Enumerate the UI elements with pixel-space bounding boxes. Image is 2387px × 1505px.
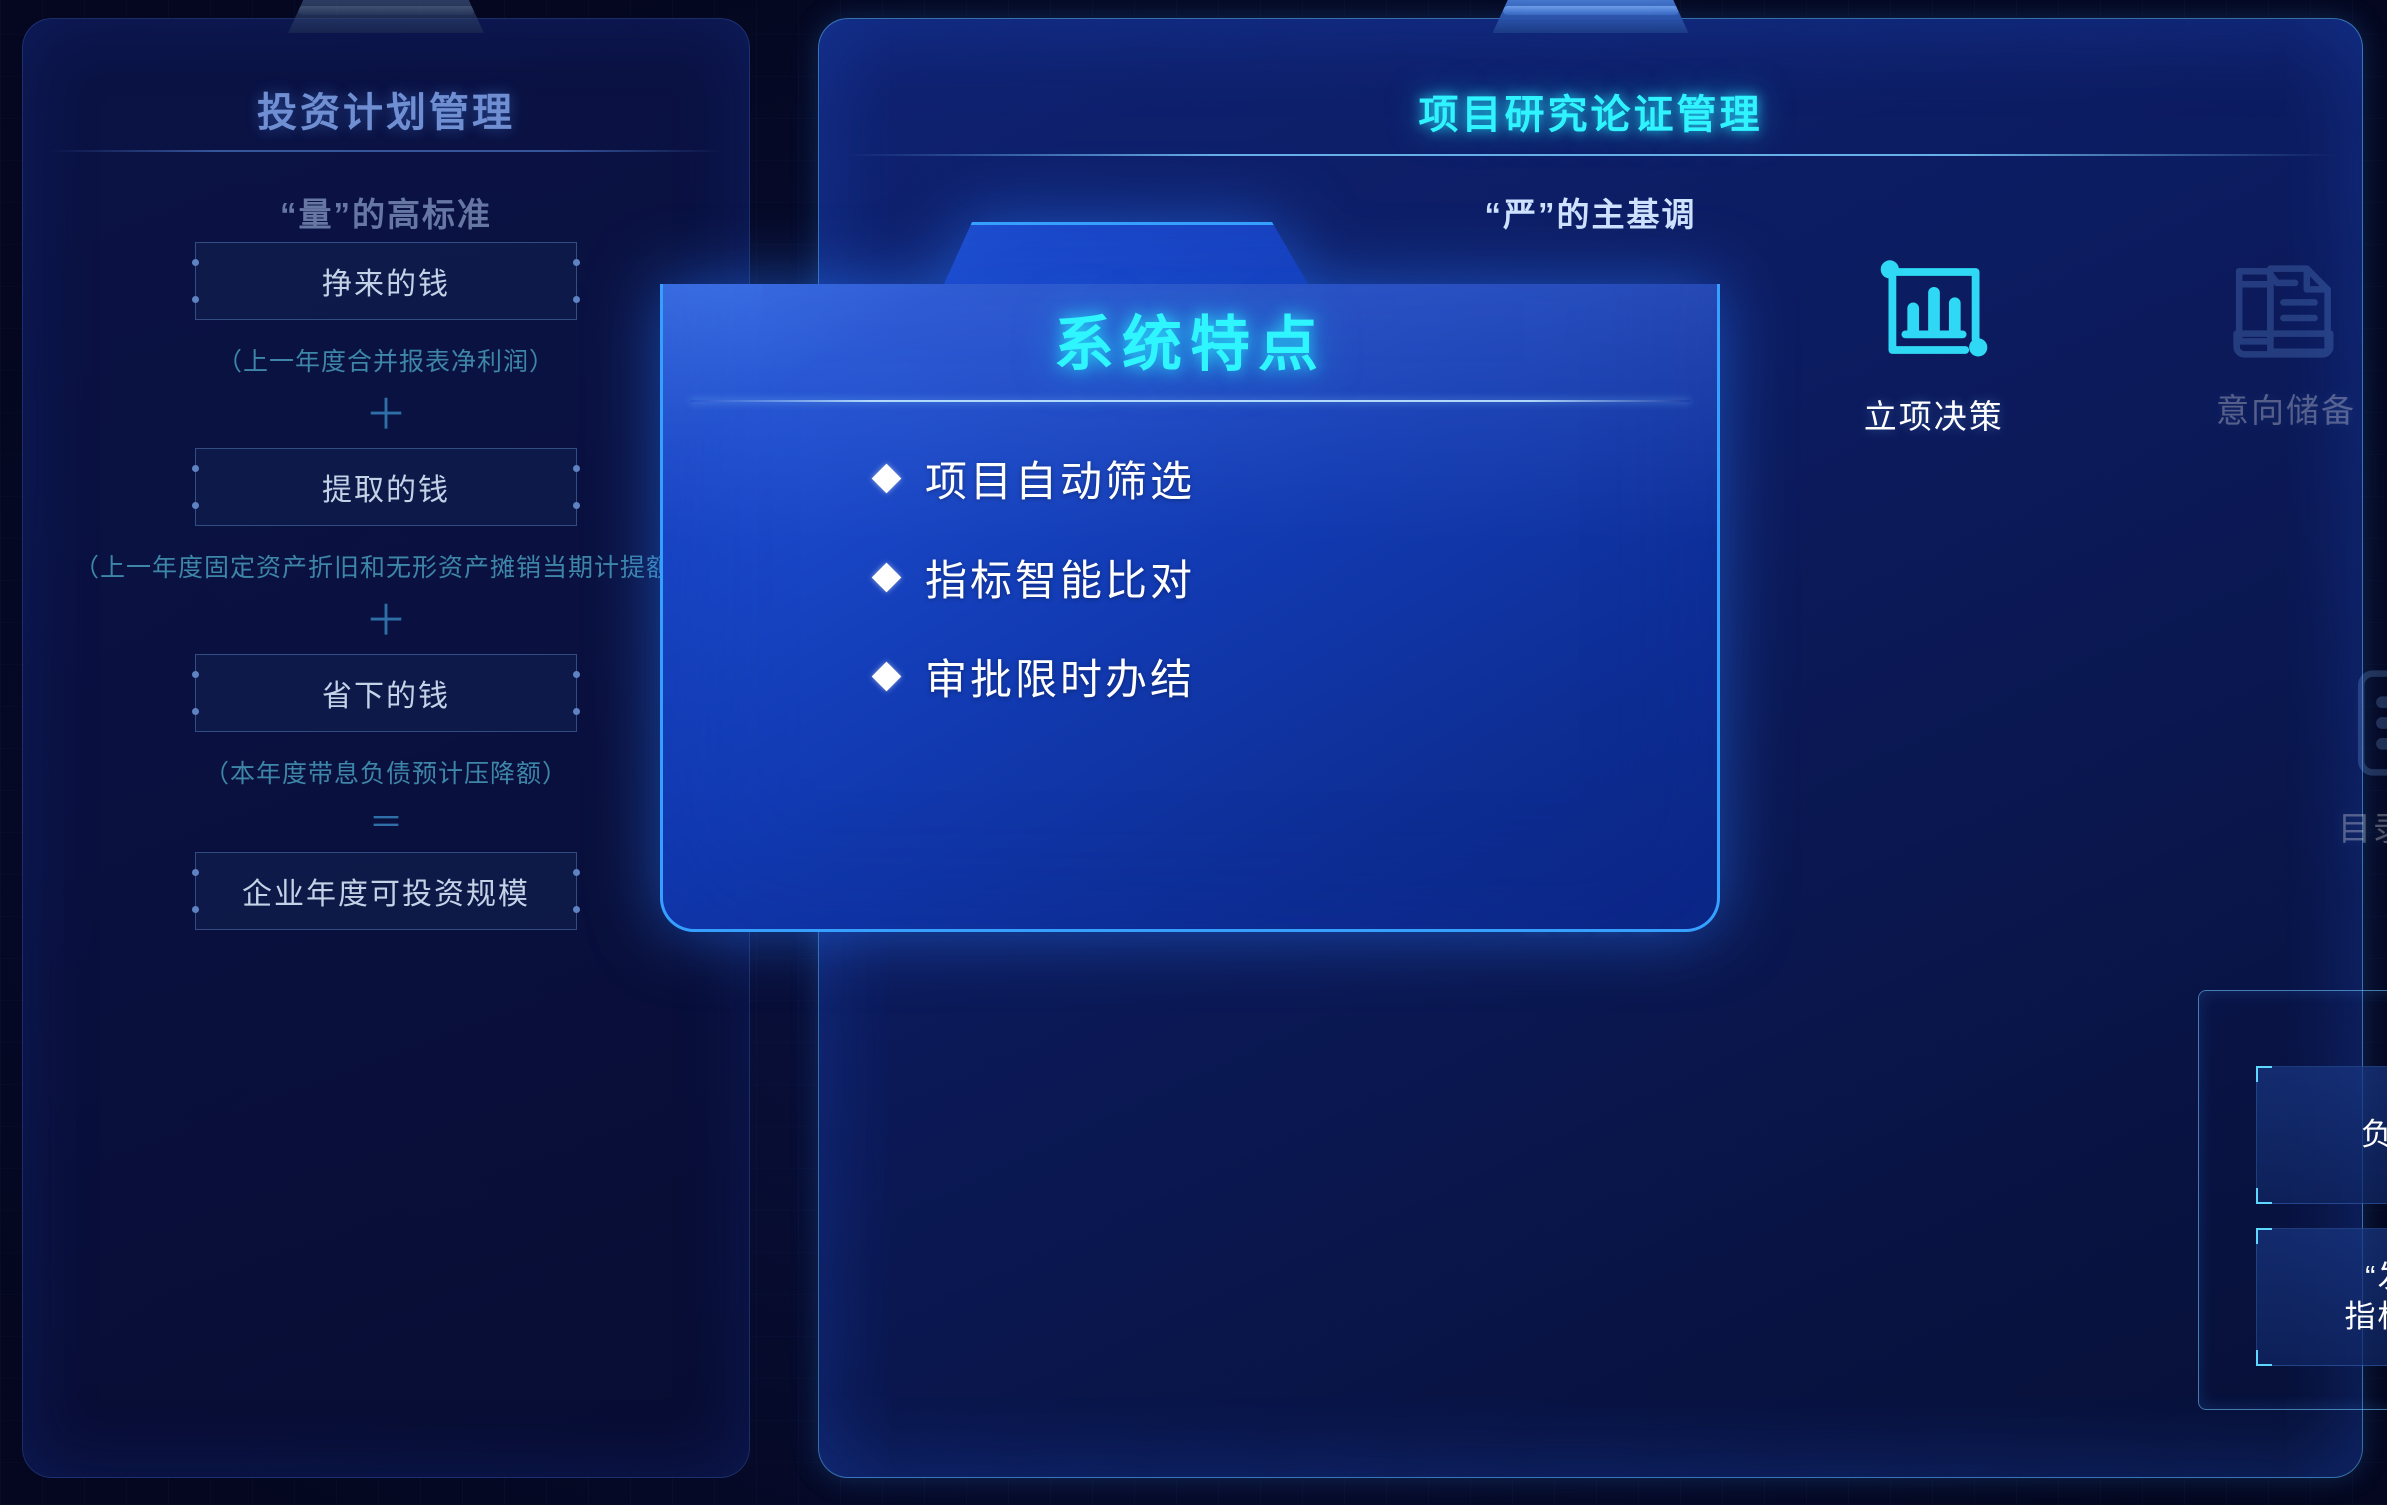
modal-list-item[interactable]: 指标智能比对 bbox=[876, 547, 1195, 608]
panel-left-subtitle: “量”的高标准 bbox=[22, 188, 750, 236]
formula-box-result[interactable]: 企业年度可投资规模 bbox=[195, 852, 577, 930]
corner-dot-icon bbox=[573, 869, 580, 876]
corner-dot-icon bbox=[573, 296, 580, 303]
corner-dot-icon bbox=[573, 708, 580, 715]
formula-box-label: 提取的钱 bbox=[322, 465, 450, 509]
formula-box-label: 省下的钱 bbox=[322, 671, 450, 715]
embed-cell-label-line2: 指标对标值 bbox=[2345, 1297, 2387, 1337]
embed-cell-negative-list[interactable]: 负面清单 bbox=[2256, 1066, 2387, 1204]
formula-box-label: 挣来的钱 bbox=[322, 259, 450, 303]
corner-bracket-icon bbox=[2256, 1066, 2272, 1082]
formula-box-withdrawn[interactable]: 提取的钱 bbox=[195, 448, 577, 526]
corner-dot-icon bbox=[192, 869, 199, 876]
formula-note: （本年度带息负债预计压降额） bbox=[22, 754, 750, 790]
formula-operator-equals: ＝ bbox=[22, 806, 750, 840]
modal-list-item[interactable]: 审批限时办结 bbox=[876, 646, 1195, 707]
formula-operator-plus: ＋ bbox=[22, 600, 750, 642]
panel-right-title: 项目研究论证管理 bbox=[818, 82, 2363, 140]
system-embed-group: 系统嵌入 负面清单 主业目录 bbox=[2198, 990, 2387, 1410]
diamond-bullet-icon bbox=[872, 464, 902, 494]
modal-list-item-label: 项目自动筛选 bbox=[925, 448, 1195, 509]
panel-right-tab-handle[interactable] bbox=[1493, 0, 1689, 33]
panel-right-title-divider bbox=[844, 154, 2337, 156]
corner-dot-icon bbox=[192, 906, 199, 913]
corner-dot-icon bbox=[192, 296, 199, 303]
corner-dot-icon bbox=[192, 671, 199, 678]
system-features-modal[interactable]: 系统特点 项目自动筛选 指标智能比对 审批限时办结 bbox=[660, 222, 1720, 932]
system-embed-grid: 负面清单 主业目录 “发展线” 指标对标值 bbox=[2256, 1066, 2387, 1366]
corner-bracket-icon bbox=[2256, 1188, 2272, 1204]
panel-investment-plan[interactable]: 投资计划管理 “量”的高标准 挣来的钱 （上一年度合并报表净利润） ＋ 提取的钱… bbox=[22, 18, 750, 1478]
modal-feature-list: 项目自动筛选 指标智能比对 审批限时办结 bbox=[876, 448, 1195, 707]
corner-dot-icon bbox=[192, 502, 199, 509]
modal-list-item[interactable]: 项目自动筛选 bbox=[876, 448, 1195, 509]
modal-list-item-label: 指标智能比对 bbox=[925, 547, 1195, 608]
formula-box-earned[interactable]: 挣来的钱 bbox=[195, 242, 577, 320]
formula-box-label: 企业年度可投资规模 bbox=[242, 869, 530, 913]
corner-dot-icon bbox=[192, 465, 199, 472]
embed-cell-label-line1: “发展线” bbox=[2345, 1257, 2387, 1297]
embed-cell-label: 负面清单 bbox=[2361, 1115, 2387, 1155]
modal-title: 系统特点 bbox=[660, 296, 1720, 383]
corner-dot-icon bbox=[573, 502, 580, 509]
formula-box-saved[interactable]: 省下的钱 bbox=[195, 654, 577, 732]
panel-left-title-divider bbox=[48, 150, 724, 152]
formula-operator-plus: ＋ bbox=[22, 394, 750, 436]
embed-cell-development-line-benchmark[interactable]: “发展线” 指标对标值 bbox=[2256, 1228, 2387, 1366]
panel-left-tab-handle[interactable] bbox=[288, 0, 484, 33]
corner-bracket-icon bbox=[2256, 1228, 2272, 1244]
diamond-bullet-icon bbox=[872, 563, 902, 593]
modal-divider bbox=[690, 400, 1690, 402]
corner-dot-icon bbox=[192, 708, 199, 715]
corner-dot-icon bbox=[192, 259, 199, 266]
corner-dot-icon bbox=[573, 465, 580, 472]
investment-formula: 挣来的钱 （上一年度合并报表净利润） ＋ 提取的钱 （上一年度固定资产折旧和无形… bbox=[22, 242, 750, 930]
panel-left-title: 投资计划管理 bbox=[22, 80, 750, 138]
feature-tile-label: 立项决策 bbox=[1864, 390, 2004, 438]
presentation-slide: 投资计划管理 “量”的高标准 挣来的钱 （上一年度合并报表净利润） ＋ 提取的钱… bbox=[0, 0, 2387, 1505]
bar-chart-icon bbox=[1869, 246, 1999, 376]
formula-note: （上一年度合并报表净利润） bbox=[22, 342, 750, 378]
modal-list-item-label: 审批限时办结 bbox=[925, 646, 1195, 707]
corner-dot-icon bbox=[573, 906, 580, 913]
diamond-bullet-icon bbox=[872, 662, 902, 692]
corner-dot-icon bbox=[573, 259, 580, 266]
corner-dot-icon bbox=[573, 671, 580, 678]
formula-note: （上一年度固定资产折旧和无形资产摊销当期计提额） bbox=[22, 548, 750, 584]
corner-bracket-icon bbox=[2256, 1350, 2272, 1366]
